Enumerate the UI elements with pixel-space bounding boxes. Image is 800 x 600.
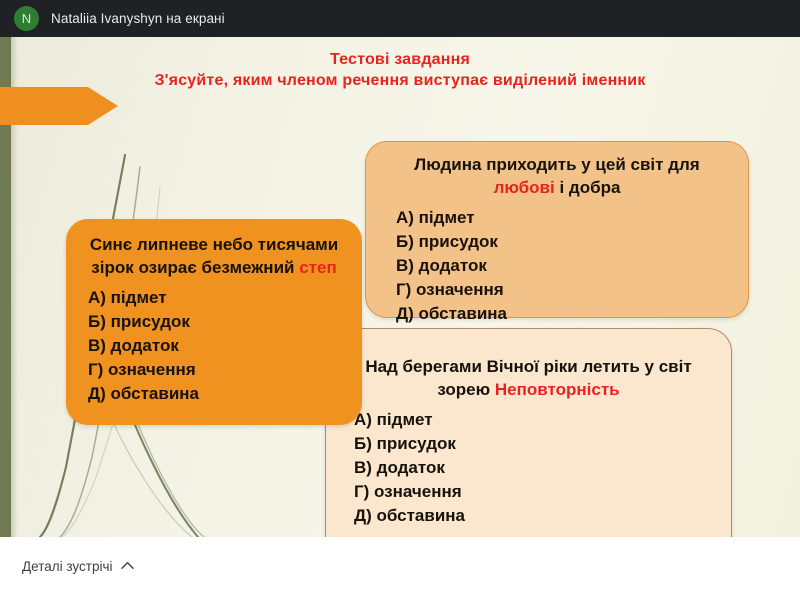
- answer-option: А) підмет: [354, 408, 715, 432]
- answer-option: В) додаток: [396, 254, 730, 278]
- answer-option: Б) присудок: [354, 432, 715, 456]
- answer-option: Д) обставина: [88, 382, 346, 406]
- meeting-control-bar: Деталі зустрічі: [0, 537, 800, 600]
- answer-options-2: А) підметБ) присудокВ) додатокГ) означен…: [396, 206, 730, 326]
- question-fragment-2: і добра: [555, 178, 621, 197]
- answer-options-1: А) підметБ) присудокВ) додатокГ) означен…: [88, 286, 346, 406]
- highlighted-noun: любові: [494, 178, 555, 197]
- answer-option: Д) обставина: [354, 504, 715, 528]
- highlighted-noun: Неповторність: [495, 380, 620, 399]
- question-text-3: Над берегами Вічної ріки летить у світ з…: [342, 355, 715, 401]
- avatar-initial: N: [22, 11, 31, 26]
- answer-option: Д) обставина: [396, 302, 730, 326]
- meeting-details-label: Деталі зустрічі: [22, 559, 112, 574]
- answer-option: Г) означення: [88, 358, 346, 382]
- avatar: N: [14, 6, 39, 31]
- meeting-details-button[interactable]: Деталі зустрічі: [22, 557, 134, 575]
- question-card-1[interactable]: Синє липневе небо тисячами зірок озирає …: [66, 219, 362, 425]
- highlighted-noun: степ: [299, 258, 337, 277]
- answer-option: А) підмет: [88, 286, 346, 310]
- answer-option: Г) означення: [354, 480, 715, 504]
- question-text-2: Людина приходить у цей світ для любові і…: [384, 153, 730, 199]
- question-card-2[interactable]: Людина приходить у цей світ для любові і…: [365, 141, 749, 318]
- answer-option: Б) присудок: [88, 310, 346, 334]
- presentation-status-bar: N Nataliia Ivanyshyn на екрані: [0, 0, 800, 37]
- answer-option: В) додаток: [88, 334, 346, 358]
- meeting-window: N Nataliia Ivanyshyn на екрані: [0, 0, 800, 600]
- shared-screen-area[interactable]: Тестові завдання З'ясуйте, яким членом р…: [0, 37, 800, 537]
- question-text-1: Синє липневе небо тисячами зірок озирає …: [82, 233, 346, 279]
- presentation-slide: Тестові завдання З'ясуйте, яким членом р…: [0, 37, 800, 537]
- answer-option: В) додаток: [354, 456, 715, 480]
- question-fragment-0: Людина приходить у цей світ для: [414, 155, 699, 174]
- presenter-status-label: Nataliia Ivanyshyn на екрані: [51, 11, 225, 26]
- answer-option: Г) означення: [396, 278, 730, 302]
- question-card-3[interactable]: Над берегами Вічної ріки летить у світ з…: [325, 328, 732, 537]
- answer-options-3: А) підметБ) присудокВ) додатокГ) означен…: [354, 408, 715, 528]
- chevron-up-icon: [121, 557, 134, 575]
- answer-option: Б) присудок: [396, 230, 730, 254]
- answer-option: А) підмет: [396, 206, 730, 230]
